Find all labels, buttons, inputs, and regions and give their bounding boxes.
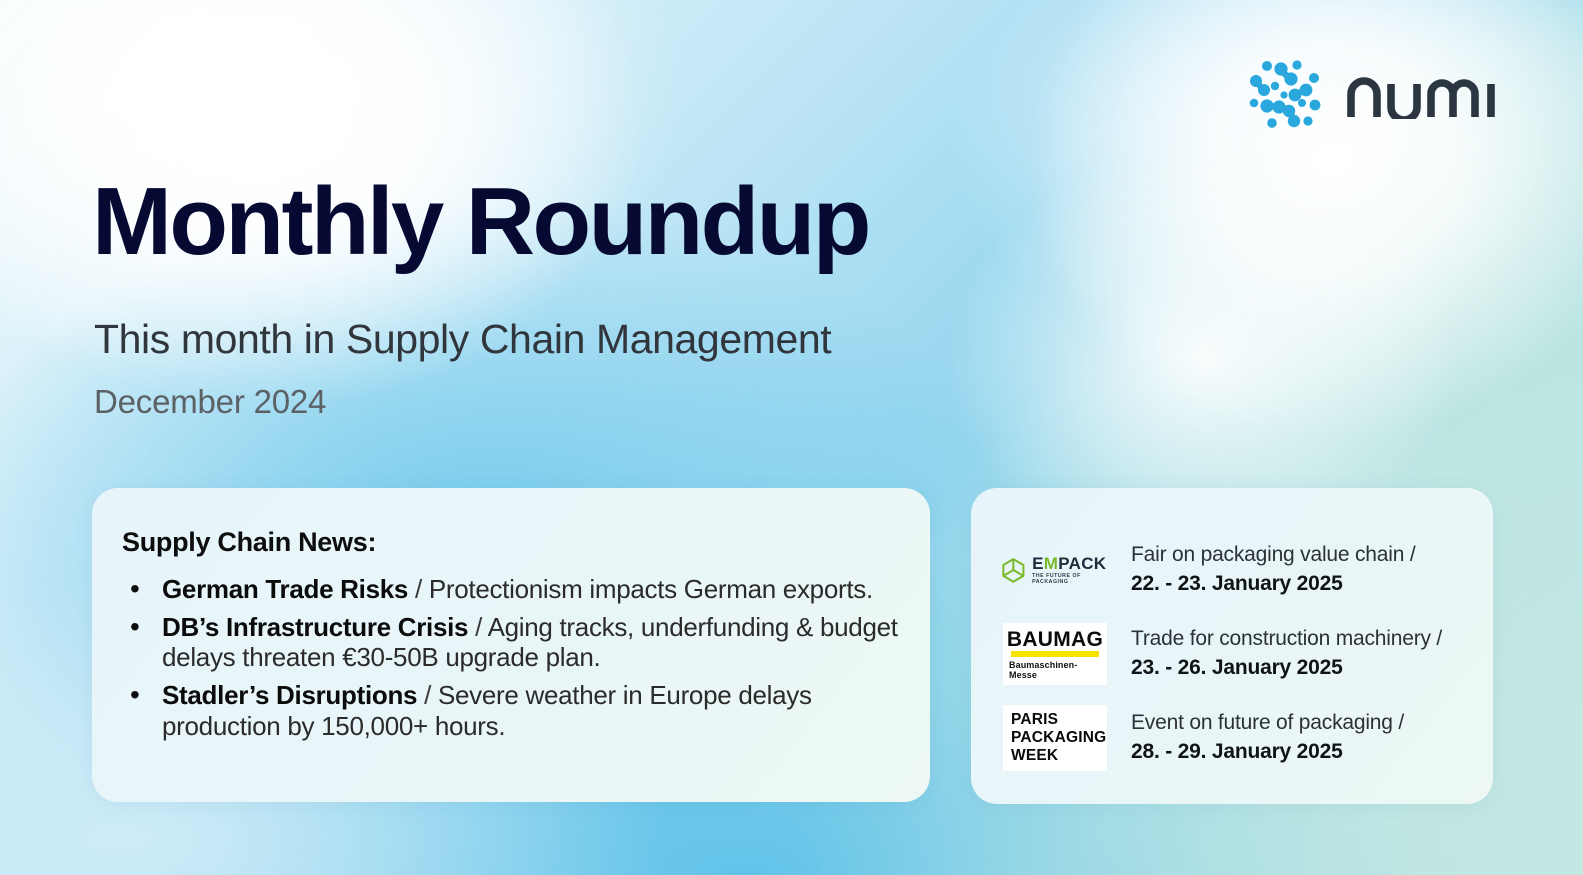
news-card-title: Supply Chain News: (122, 527, 376, 558)
ppw-logo-line-1: PARIS (1011, 711, 1058, 728)
ppw-logo-line-2: PACKAGING (1011, 729, 1106, 746)
supply-chain-news-card: Supply Chain News: German Trade Risks / … (92, 488, 930, 802)
event-description: Trade for construction machinery / (1131, 625, 1442, 653)
ppw-logo-line-3: WEEK (1011, 747, 1058, 764)
upcoming-events-card: EMPACK THE FUTURE OF PACKAGING Fair on p… (971, 488, 1493, 804)
brand-logo[interactable] (1245, 55, 1499, 135)
news-item-separator: / (417, 680, 438, 710)
page-title: Monthly Roundup (92, 172, 869, 272)
list-item: DB’s Infrastructure Crisis / Aging track… (122, 612, 904, 673)
event-date: 28. - 29. January 2025 (1131, 737, 1404, 766)
baumag-yellow-bar (1011, 651, 1099, 657)
list-item: Stadler’s Disruptions / Severe weather i… (122, 680, 904, 741)
list-item: German Trade Risks / Protectionism impac… (122, 574, 904, 605)
empack-cube-icon (1000, 555, 1027, 585)
news-item-headline: German Trade Risks (162, 574, 408, 604)
event-description: Fair on packaging value chain / (1131, 541, 1415, 569)
news-list: German Trade Risks / Protectionism impac… (122, 574, 904, 748)
numi-wordmark (1347, 71, 1499, 119)
baumag-logo: BAUMAG Baumaschinen-Messe (1001, 623, 1109, 685)
event-row[interactable]: PARIS PACKAGING WEEK Event on future of … (971, 696, 1493, 780)
newsletter-page: Monthly Roundup This month in Supply Cha… (0, 0, 1583, 875)
baumag-logo-tagline: Baumaschinen-Messe (1009, 660, 1101, 680)
page-subtitle: This month in Supply Chain Management (94, 315, 831, 364)
event-date: 23. - 26. January 2025 (1131, 653, 1442, 682)
news-item-text: Protectionism impacts German exports. (429, 574, 873, 604)
event-text-block: Fair on packaging value chain / 22. - 23… (1131, 541, 1415, 599)
page-date: December 2024 (94, 382, 326, 422)
baumag-logo-text: BAUMAG (1007, 630, 1103, 650)
event-description: Event on future of packaging / (1131, 709, 1404, 737)
event-date: 22. - 23. January 2025 (1131, 569, 1415, 598)
news-item-separator: / (408, 574, 429, 604)
news-item-headline: Stadler’s Disruptions (162, 680, 417, 710)
event-text-block: Trade for construction machinery / 23. -… (1131, 625, 1442, 683)
numi-dot-network-icon (1245, 55, 1325, 135)
empack-logo: EMPACK THE FUTURE OF PACKAGING (1001, 555, 1109, 585)
news-item-headline: DB’s Infrastructure Crisis (162, 612, 468, 642)
event-row[interactable]: EMPACK THE FUTURE OF PACKAGING Fair on p… (971, 528, 1493, 612)
event-row[interactable]: BAUMAG Baumaschinen-Messe Trade for cons… (971, 612, 1493, 696)
empack-logo-tagline: THE FUTURE OF PACKAGING (1032, 574, 1109, 584)
paris-packaging-week-logo: PARIS PACKAGING WEEK (1001, 705, 1109, 771)
empack-logo-text: EMPACK (1032, 555, 1109, 572)
event-text-block: Event on future of packaging / 28. - 29.… (1131, 709, 1404, 767)
events-list: EMPACK THE FUTURE OF PACKAGING Fair on p… (971, 528, 1493, 780)
news-item-separator: / (468, 612, 487, 642)
